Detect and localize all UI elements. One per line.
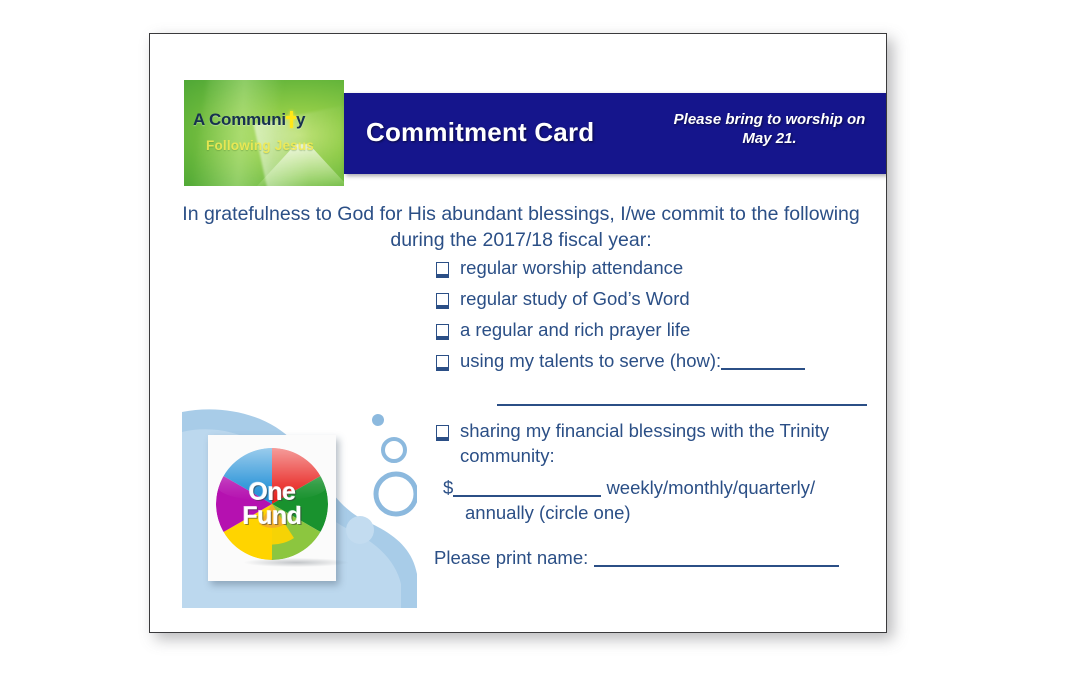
card-header: A Communiy Following Jesus Commitment Ca… bbox=[150, 34, 886, 194]
checklist-item-financial-blessings[interactable]: sharing my financial blessings with the … bbox=[436, 419, 866, 469]
logo-text-before-cross: A Communi bbox=[193, 110, 286, 129]
checklist-item-label: using my talents to serve (how): bbox=[460, 349, 866, 374]
currency-symbol: $ bbox=[443, 477, 453, 498]
pledge-frequency-options[interactable]: weekly/monthly/quarterly/ bbox=[606, 477, 815, 498]
color-wheel-svg bbox=[216, 448, 328, 560]
page-title: Commitment Card bbox=[366, 117, 594, 148]
checklist-item-label: a regular and rich prayer life bbox=[460, 318, 866, 343]
checklist-item-talents-to-serve[interactable]: using my talents to serve (how): bbox=[436, 349, 866, 374]
logo-tagline-secondary: Following Jesus bbox=[206, 138, 314, 153]
commitment-checklist: regular worship attendance regular study… bbox=[436, 256, 866, 380]
one-fund-card-shadow bbox=[244, 558, 348, 567]
checklist-item-label: regular study of God’s Word bbox=[460, 287, 866, 312]
pledge-amount-row: $ weekly/monthly/quarterly/ annually (ci… bbox=[443, 476, 873, 526]
print-name-row: Please print name: bbox=[434, 547, 839, 569]
one-fund-logo-card: One Fund bbox=[208, 435, 336, 581]
page-background: A Communiy Following Jesus Commitment Ca… bbox=[0, 0, 1080, 675]
checkbox-icon[interactable] bbox=[436, 425, 449, 438]
print-name-input[interactable] bbox=[594, 565, 839, 567]
intro-paragraph: In gratefulness to God for His abundant … bbox=[176, 201, 866, 253]
checklist-item-label: sharing my financial blessings with the … bbox=[460, 419, 866, 469]
checkbox-icon[interactable] bbox=[436, 355, 449, 368]
print-name-label: Please print name: bbox=[434, 547, 588, 568]
checkbox-icon[interactable] bbox=[436, 324, 449, 337]
checkbox-icon[interactable] bbox=[436, 262, 449, 275]
talents-write-in-blank[interactable] bbox=[721, 368, 805, 370]
talents-write-in-blank-line2[interactable] bbox=[497, 404, 867, 406]
banner-instruction-note: Please bring to worship on May 21. bbox=[667, 110, 872, 148]
checklist-item-prayer-life[interactable]: a regular and rich prayer life bbox=[436, 318, 866, 343]
checklist-item-text: using my talents to serve (how): bbox=[460, 350, 721, 371]
checklist-item-worship-attendance[interactable]: regular worship attendance bbox=[436, 256, 866, 281]
color-wheel-graphic: One Fund bbox=[216, 448, 328, 560]
logo-text-after-cross: y bbox=[296, 110, 305, 129]
title-banner: Commitment Card Please bring to worship … bbox=[344, 93, 886, 174]
church-logo-tile: A Communiy Following Jesus bbox=[184, 80, 344, 186]
checkbox-icon[interactable] bbox=[436, 293, 449, 306]
logo-tagline-primary: A Communiy bbox=[193, 110, 305, 130]
pledge-amount-input[interactable] bbox=[453, 495, 601, 497]
financial-section: sharing my financial blessings with the … bbox=[436, 419, 866, 475]
one-fund-artwork: One Fund bbox=[182, 398, 417, 608]
checklist-item-study-gods-word[interactable]: regular study of God’s Word bbox=[436, 287, 866, 312]
decorative-circle-ring-large bbox=[376, 474, 416, 514]
checklist-item-label: regular worship attendance bbox=[460, 256, 866, 281]
pledge-frequency-options-line2[interactable]: annually (circle one) bbox=[465, 501, 873, 526]
commitment-card: A Communiy Following Jesus Commitment Ca… bbox=[149, 33, 887, 633]
decorative-circle-ring bbox=[383, 439, 405, 461]
decorative-circle-medium bbox=[346, 516, 374, 544]
decorative-circle-small bbox=[372, 414, 384, 426]
cross-icon bbox=[286, 111, 296, 128]
